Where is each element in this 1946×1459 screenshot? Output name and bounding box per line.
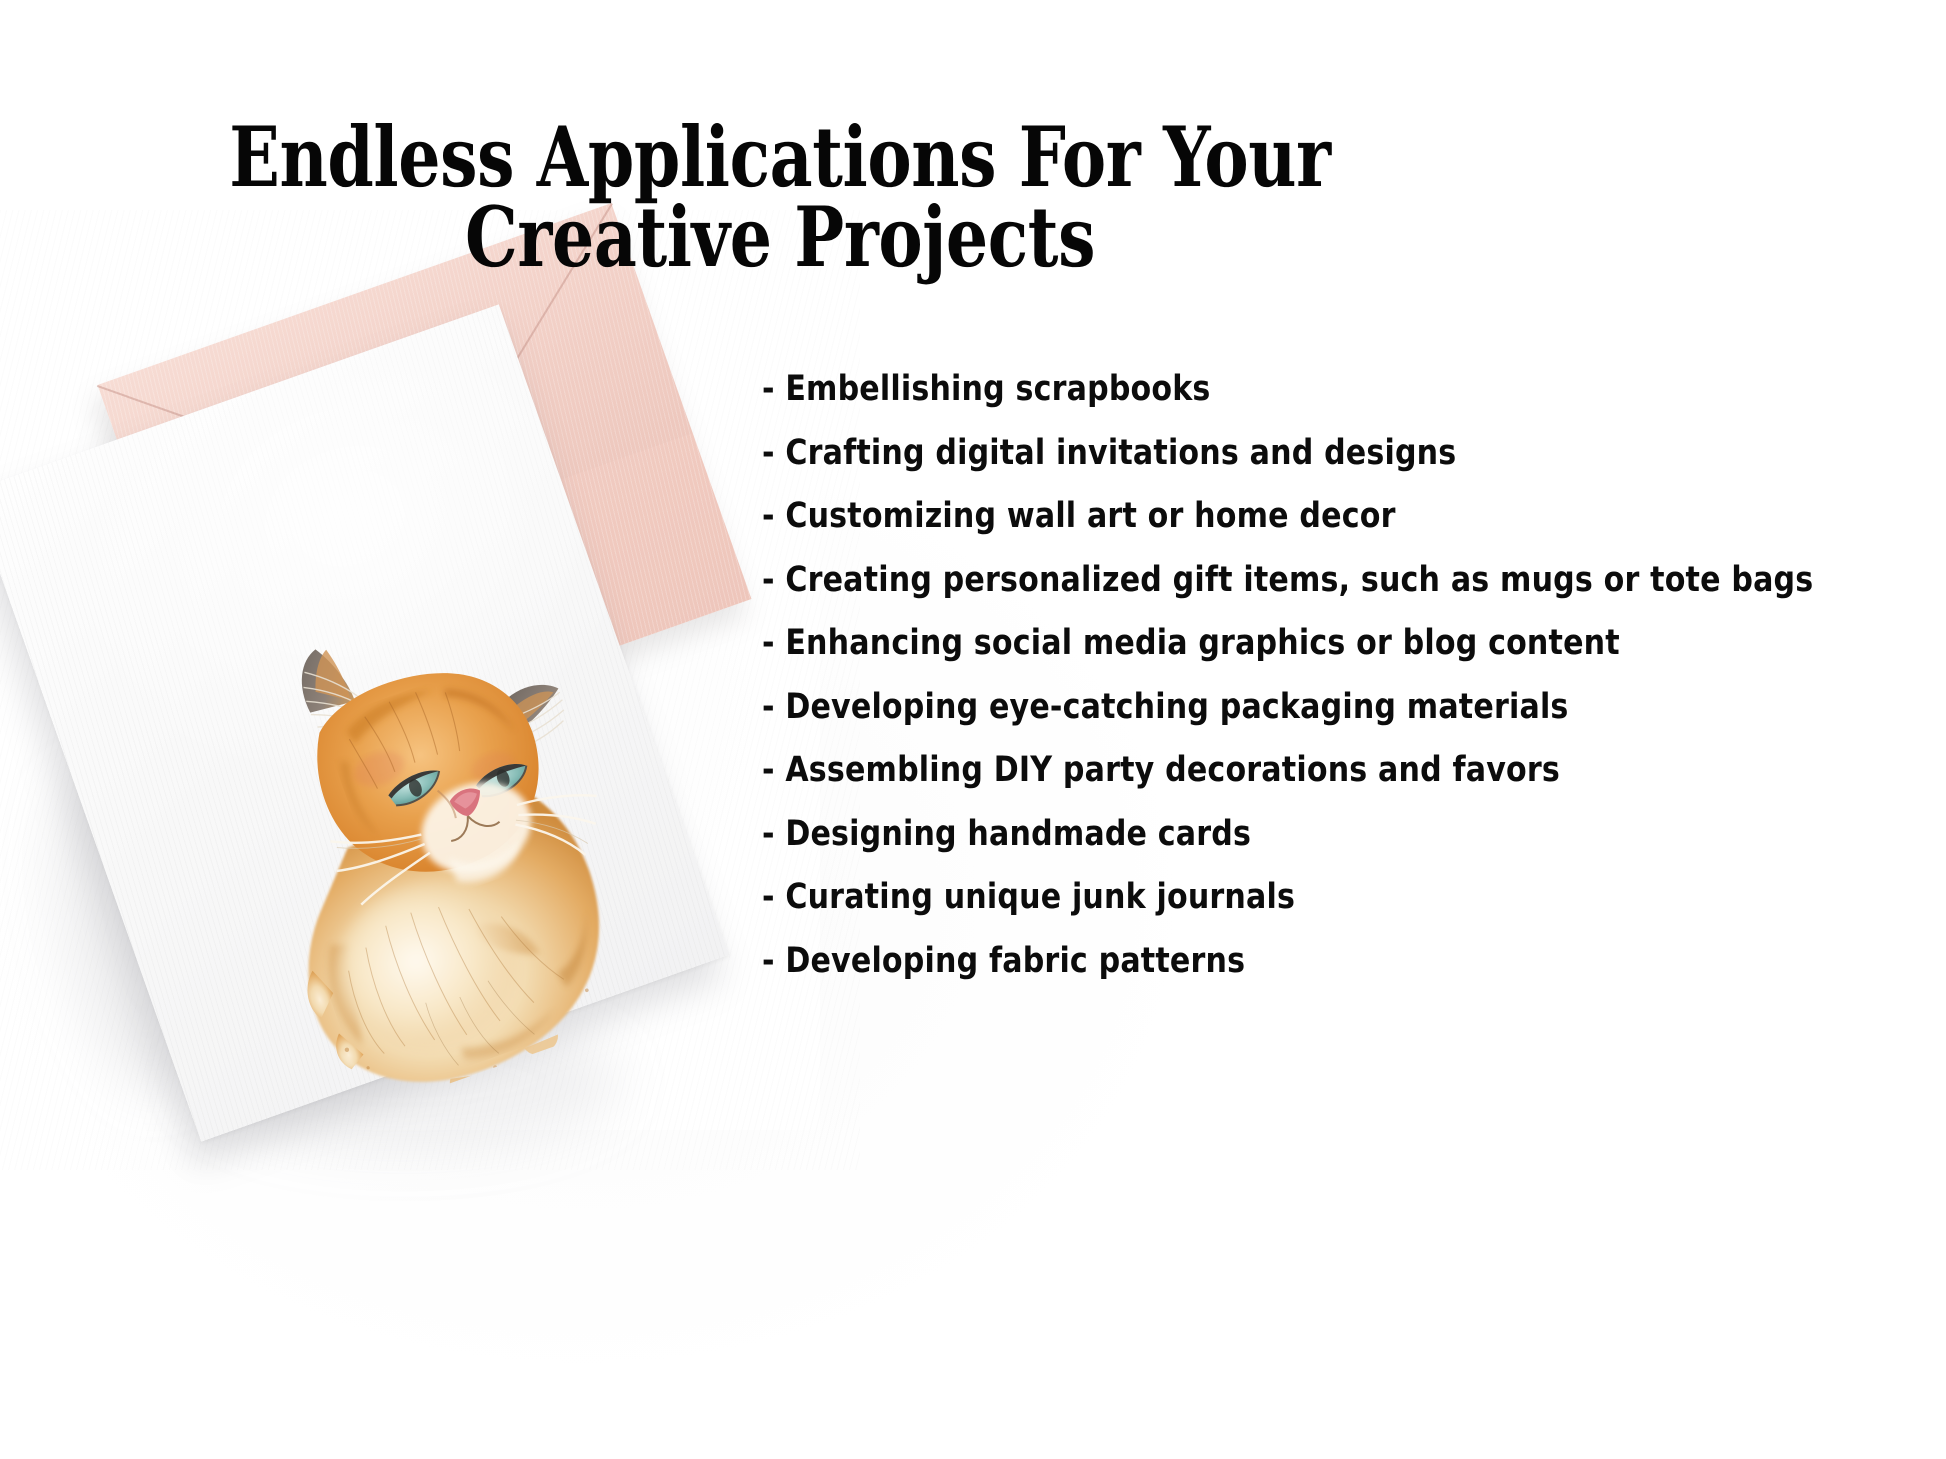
list-item: - Customizing wall art or home decor — [762, 499, 1734, 534]
poster-canvas: Endless Applications For Your Creative P… — [0, 0, 1946, 1459]
page-title-line-1: Endless Applications For Your — [156, 118, 1404, 198]
list-item: - Enhancing social media graphics or blo… — [762, 626, 1734, 661]
list-item: - Developing fabric patterns — [762, 944, 1734, 979]
list-item: - Designing handmade cards — [762, 817, 1734, 852]
list-item: - Assembling DIY party decorations and f… — [762, 753, 1734, 788]
page-title: Endless Applications For Your Creative P… — [0, 118, 1560, 277]
list-item: - Creating personalized gift items, such… — [762, 563, 1734, 598]
page-title-line-2: Creative Projects — [156, 198, 1404, 278]
list-item: - Curating unique junk journals — [762, 880, 1734, 915]
list-item: - Developing eye-catching packaging mate… — [762, 690, 1734, 725]
list-item: - Crafting digital invitations and desig… — [762, 436, 1734, 471]
product-mockup-photo — [40, 250, 820, 1130]
applications-list: - Embellishing scrapbooks - Crafting dig… — [762, 372, 1892, 1007]
list-item: - Embellishing scrapbooks — [762, 372, 1734, 407]
